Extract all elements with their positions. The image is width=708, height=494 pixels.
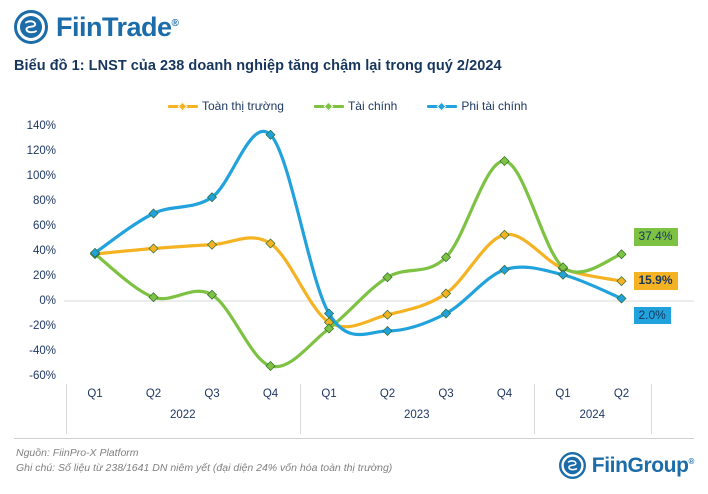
series-end-value-label: 37.4% (634, 228, 678, 246)
legend-marker-icon-blue (427, 100, 457, 112)
year-separator (534, 384, 535, 434)
x-axis-tick-label: Q1 (555, 388, 570, 400)
series-end-value-label: 2.0% (634, 307, 671, 325)
x-axis-tick-label: Q4 (497, 388, 512, 400)
methodology-note: Ghi chú: Số liệu từ 238/1641 DN niêm yết… (16, 461, 392, 476)
series-data-point[interactable] (500, 230, 509, 239)
series-data-point[interactable] (149, 244, 158, 253)
x-axis-tick-label: Q3 (438, 388, 453, 400)
page-title: Biểu đồ 1: LNST của 238 doanh nghiệp tăn… (14, 58, 502, 74)
x-axis-year-label: 2023 (404, 409, 430, 421)
series-end-value-label: 15.9% (634, 272, 678, 290)
legend-label: Toàn thị trường (202, 99, 284, 113)
series-data-point[interactable] (500, 156, 509, 165)
series-data-point[interactable] (207, 240, 216, 249)
series-line (95, 234, 622, 326)
fiingroup-name-text: FiinGroup (592, 454, 689, 477)
x-axis-year-label: 2022 (170, 409, 196, 421)
x-axis-tick-label: Q4 (263, 388, 278, 400)
x-axis-tick-label: Q2 (614, 388, 629, 400)
brand-name: FiinTrade® (56, 14, 178, 41)
series-data-point[interactable] (500, 265, 509, 274)
fiin-circular-logo-icon (559, 452, 586, 479)
legend-label: Tài chính (348, 99, 397, 113)
legend-marker-icon-orange (168, 100, 198, 112)
x-axis-year-label: 2024 (579, 409, 605, 421)
year-separator (66, 384, 67, 434)
legend-marker-icon-green (314, 100, 344, 112)
series-data-point[interactable] (617, 294, 626, 303)
brand-registered-mark: ® (172, 18, 179, 29)
series-data-point[interactable] (149, 293, 158, 302)
x-axis-tick-label: Q2 (146, 388, 161, 400)
year-separator (651, 384, 652, 434)
chart-plot-area: 140%120%100%80%60%40%20%0%-20%-40%-60% (0, 112, 708, 384)
legend-item-phi-tai-chinh[interactable]: Phi tài chính (427, 99, 527, 113)
chart-legend: Toàn thị trường Tài chính Phi tài chính (168, 99, 527, 113)
legend-label: Phi tài chính (461, 99, 527, 113)
fiintrade-brand: FiinTrade® (14, 10, 178, 44)
fiin-circular-logo-icon (14, 10, 48, 44)
legend-item-tai-chinh[interactable]: Tài chính (314, 99, 397, 113)
series-data-point[interactable] (383, 326, 392, 335)
x-axis-tick-label: Q1 (321, 388, 336, 400)
brand-name-text: FiinTrade (56, 12, 172, 42)
x-axis-tick-label: Q1 (87, 388, 102, 400)
fiingroup-name: FiinGroup® (592, 455, 694, 476)
source-note: Nguồn: FiinPro-X Platform (16, 446, 392, 461)
footnotes: Nguồn: FiinPro-X Platform Ghi chú: Số li… (16, 446, 392, 476)
fiingroup-logo: FiinGroup® (559, 452, 694, 479)
fiingroup-registered-mark: ® (689, 457, 695, 466)
x-axis-tick-label: Q2 (380, 388, 395, 400)
series-data-point[interactable] (383, 310, 392, 319)
series-data-point[interactable] (617, 250, 626, 259)
legend-item-toan-thi-truong[interactable]: Toàn thị trường (168, 99, 284, 113)
year-separator (300, 384, 301, 434)
chart-svg (0, 112, 708, 384)
x-axis: Q1Q2Q3Q4Q1Q2Q3Q4Q1Q2202220232024 (0, 384, 708, 434)
footer-divider (14, 438, 694, 439)
series-data-point[interactable] (558, 270, 567, 279)
x-axis-tick-label: Q3 (204, 388, 219, 400)
series-data-point[interactable] (617, 277, 626, 286)
